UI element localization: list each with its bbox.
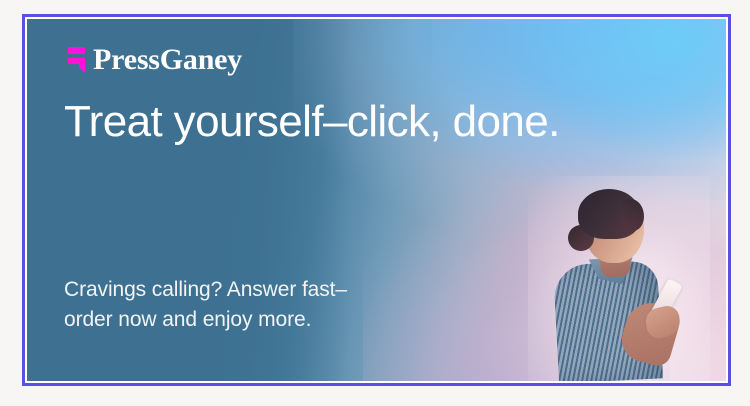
subheading-line-1: Cravings calling? Answer fast– — [64, 275, 347, 305]
hair-front — [620, 199, 644, 231]
brand-wordmark: PressGaney — [93, 45, 242, 75]
subheading-line-2: order now and enjoy more. — [64, 305, 347, 335]
promo-banner[interactable]: PressGaney Treat yourself–click, done. C… — [27, 19, 726, 381]
subheading: Cravings calling? Answer fast– order now… — [64, 275, 347, 335]
banner-frame: PressGaney Treat yourself–click, done. C… — [22, 14, 731, 386]
brand-logo[interactable]: PressGaney — [67, 45, 242, 75]
pressganey-logo-mark-icon — [67, 47, 87, 74]
headline: Treat yourself–click, done. — [64, 97, 560, 146]
woman-with-tablet-photo — [528, 176, 710, 381]
page-canvas: PressGaney Treat yourself–click, done. C… — [0, 0, 750, 406]
